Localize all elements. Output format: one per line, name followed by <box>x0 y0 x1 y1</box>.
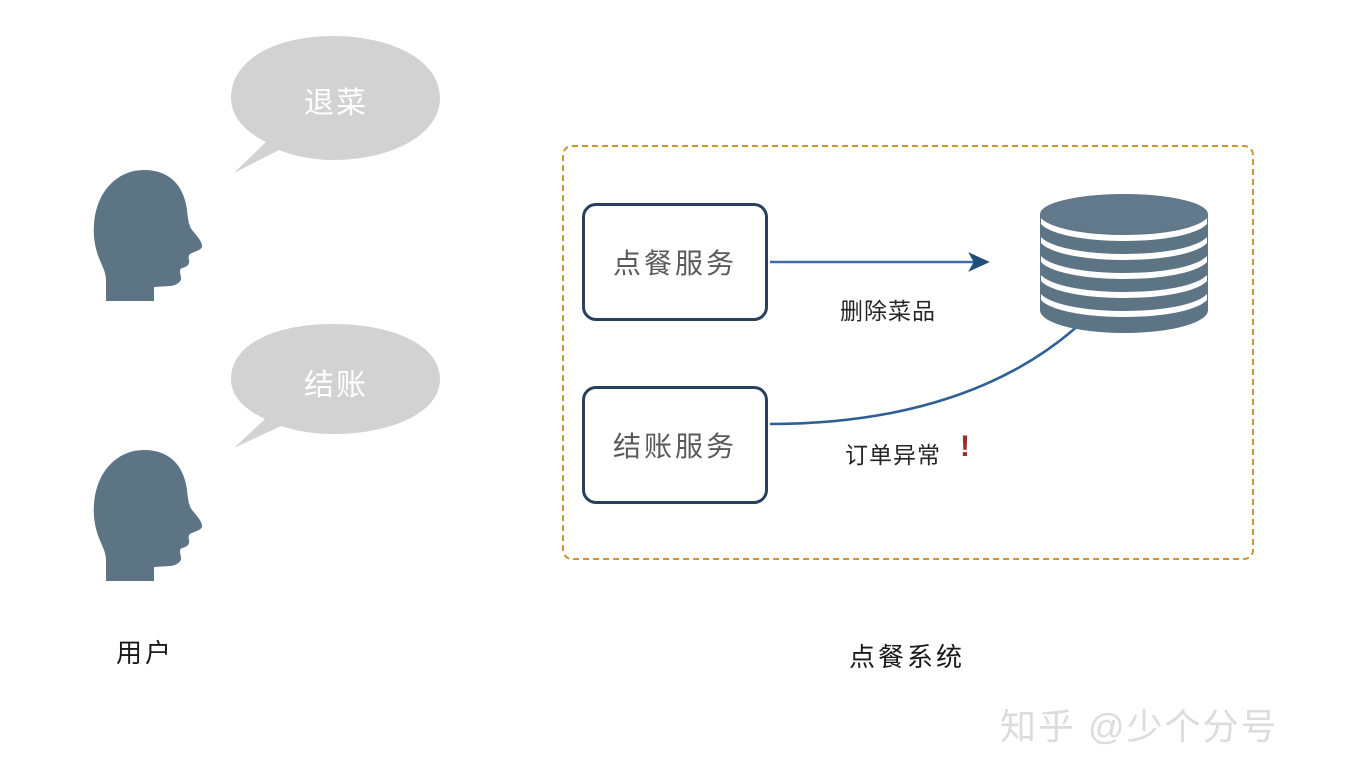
bubble-return-dish-label: 退菜 <box>304 78 368 122</box>
service-box-checkout[interactable]: 结账服务 <box>582 386 768 504</box>
edge-delete-dish-label: 删除菜品 <box>840 292 936 326</box>
bubble-checkout-label: 结账 <box>304 360 368 404</box>
person-silhouette-lower <box>92 448 207 583</box>
person-silhouette-upper <box>92 168 207 303</box>
watermark: 知乎 @少个分号 <box>1000 698 1279 750</box>
service-box-order[interactable]: 点餐服务 <box>582 203 768 321</box>
caption-system: 点餐系统 <box>849 637 965 674</box>
head-profile-icon <box>92 448 207 583</box>
caption-user: 用户 <box>116 633 174 670</box>
diagram-canvas: 退菜 结账 用户 点餐服务 结账服务 <box>0 0 1366 778</box>
database-cylinder-icon <box>1038 192 1210 334</box>
bubble-checkout: 结账 <box>228 322 446 450</box>
edge-order-exception-label: 订单异常 <box>845 436 941 470</box>
warning-exclamation-icon: ! <box>960 432 970 462</box>
service-box-order-label: 点餐服务 <box>613 242 737 282</box>
service-box-checkout-label: 结账服务 <box>613 425 737 465</box>
head-profile-icon <box>92 168 207 303</box>
bubble-return-dish: 退菜 <box>228 34 446 174</box>
